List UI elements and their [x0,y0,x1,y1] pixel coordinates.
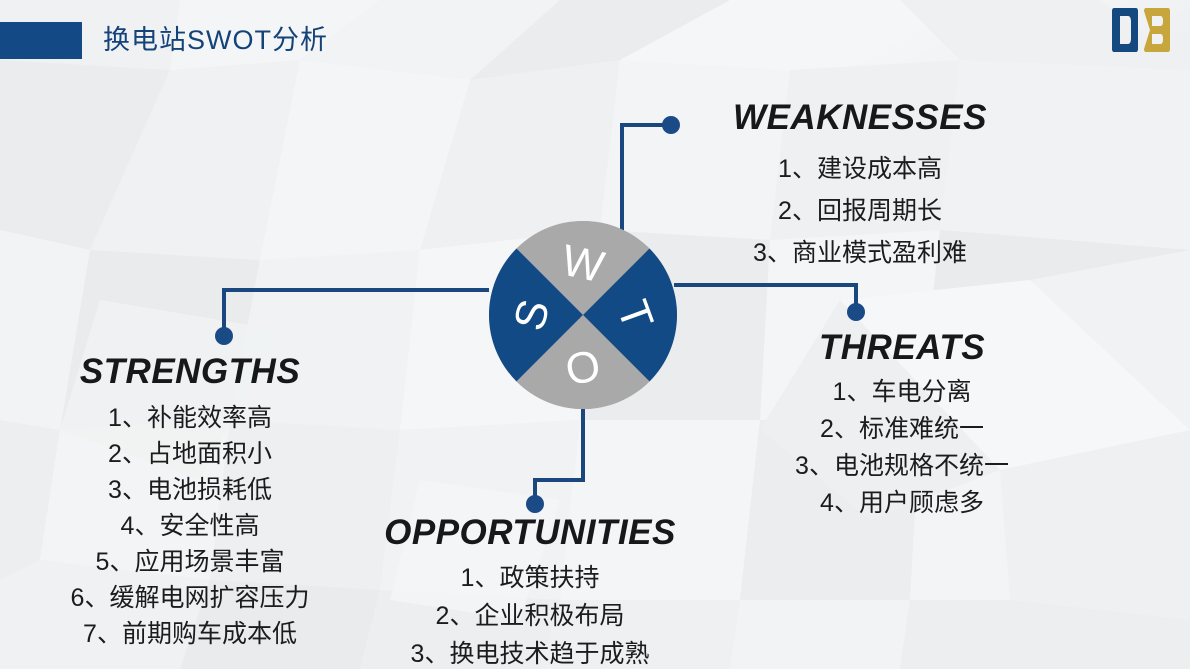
list-item: 2、占地面积小 [0,436,380,472]
quadrant-threats: THREATS 1、车电分离 2、标准难统一 3、电池规格不统一 4、用户顾虑多 [742,328,1062,522]
swot-wheel: W S T O [488,220,678,410]
connector-dot-opportunities [526,495,544,513]
connector-threats [676,285,856,308]
list-item: 1、建设成本高 [660,148,1060,190]
list-item: 3、商业模式盈利难 [660,232,1060,274]
quadrant-opportunities: OPPORTUNITIES 1、政策扶持 2、企业积极布局 3、换电技术趋于成熟 [330,513,730,669]
list-item: 6、缓解电网扩容压力 [0,580,380,616]
weaknesses-heading: WEAKNESSES [660,98,1060,138]
connector-dot-strengths [215,327,233,345]
list-item: 4、安全性高 [0,508,380,544]
threats-list: 1、车电分离 2、标准难统一 3、电池规格不统一 4、用户顾虑多 [742,374,1062,522]
list-item: 1、车电分离 [742,374,1062,411]
quadrant-weaknesses: WEAKNESSES 1、建设成本高 2、回报周期长 3、商业模式盈利难 [660,98,1060,274]
strengths-heading: STRENGTHS [0,352,380,392]
list-item: 5、应用场景丰富 [0,544,380,580]
list-item: 1、政策扶持 [330,559,730,597]
opportunities-list: 1、政策扶持 2、企业积极布局 3、换电技术趋于成熟 [330,559,730,669]
list-item: 3、电池损耗低 [0,472,380,508]
weaknesses-list: 1、建设成本高 2、回报周期长 3、商业模式盈利难 [660,148,1060,274]
connector-dot-threats [847,303,865,321]
swot-slide: 换电站SWOT分析 [0,0,1190,669]
list-item: 3、换电技术趋于成熟 [330,635,730,669]
list-item: 1、补能效率高 [0,400,380,436]
quadrant-strengths: STRENGTHS 1、补能效率高 2、占地面积小 3、电池损耗低 4、安全性高… [0,352,380,652]
opportunities-heading: OPPORTUNITIES [330,513,730,553]
list-item: 3、电池规格不统一 [742,448,1062,485]
list-item: 2、标准难统一 [742,411,1062,448]
list-item: 4、用户顾虑多 [742,485,1062,522]
threats-heading: THREATS [742,328,1062,368]
connector-strengths [224,290,487,331]
connector-opportunities [535,398,583,499]
strengths-list: 1、补能效率高 2、占地面积小 3、电池损耗低 4、安全性高 5、应用场景丰富 … [0,400,380,652]
list-item: 2、回报周期长 [660,190,1060,232]
list-item: 7、前期购车成本低 [0,616,380,652]
list-item: 2、企业积极布局 [330,597,730,635]
